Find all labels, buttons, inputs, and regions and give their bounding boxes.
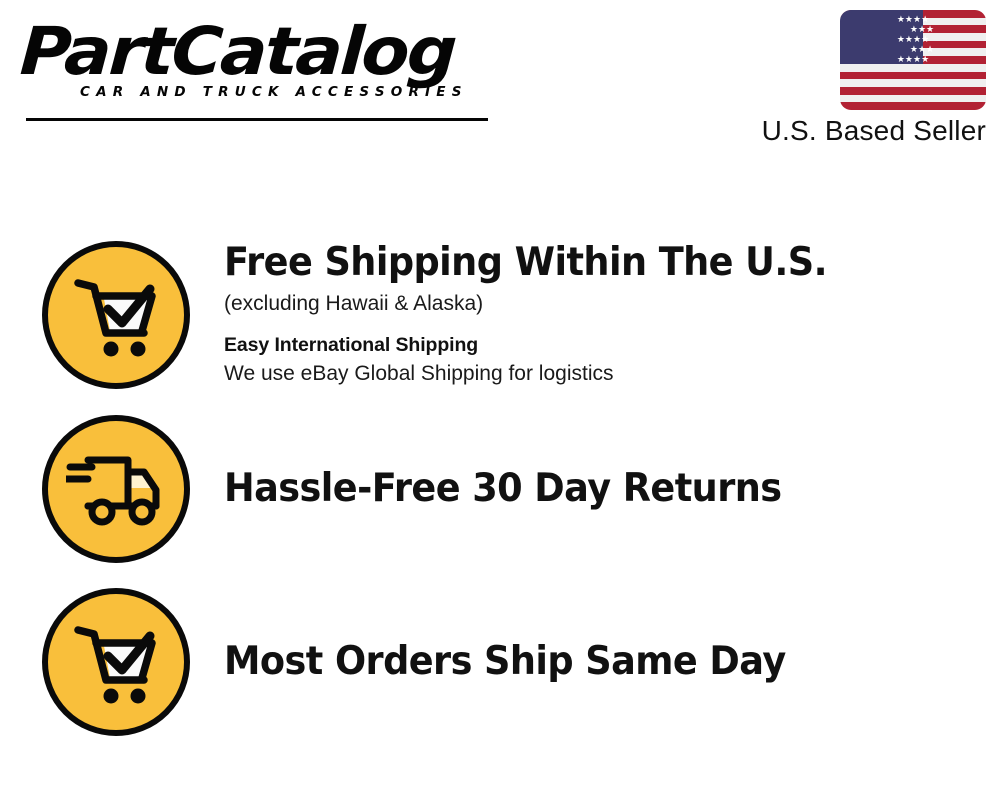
feature-text-block: Free Shipping Within The U.S. (excluding… — [224, 240, 865, 389]
feature-row: Hassle-Free 30 Day Returns — [42, 415, 817, 563]
brand-logo[interactable]: PartCatalog CAR AND TRUCK ACCESSORIES — [22, 22, 492, 100]
shopping-cart-check-icon — [42, 588, 190, 736]
us-flag-icon: ★★★★ ★★★ ★★★★ ★★★ ★★★★ — [840, 10, 986, 110]
feature-text-block: Most Orders Ship Same Day — [224, 639, 822, 685]
shopping-cart-check-icon — [42, 241, 190, 389]
brand-wordmark: PartCatalog — [19, 22, 521, 83]
feature-heading: Most Orders Ship Same Day — [224, 639, 786, 685]
feature-heading: Free Shipping Within The U.S. — [224, 240, 827, 286]
feature-sub-heading: Easy International Shipping — [224, 331, 865, 359]
feature-row: Most Orders Ship Same Day — [42, 588, 822, 736]
feature-heading: Hassle-Free 30 Day Returns — [224, 466, 782, 512]
brand-underline-rule — [26, 118, 488, 121]
feature-sub-text: We use eBay Global Shipping for logistic… — [224, 359, 865, 389]
seller-label: U.S. Based Seller — [726, 114, 986, 148]
delivery-truck-icon — [42, 415, 190, 563]
us-based-seller-badge: ★★★★ ★★★ ★★★★ ★★★ ★★★★ U.S. Based Seller — [726, 10, 986, 148]
feature-text-block: Hassle-Free 30 Day Returns — [224, 466, 817, 512]
feature-row: Free Shipping Within The U.S. (excluding… — [42, 240, 865, 389]
feature-note: (excluding Hawaii & Alaska) — [224, 289, 865, 319]
page-header: PartCatalog CAR AND TRUCK ACCESSORIES ★★… — [0, 0, 1000, 165]
